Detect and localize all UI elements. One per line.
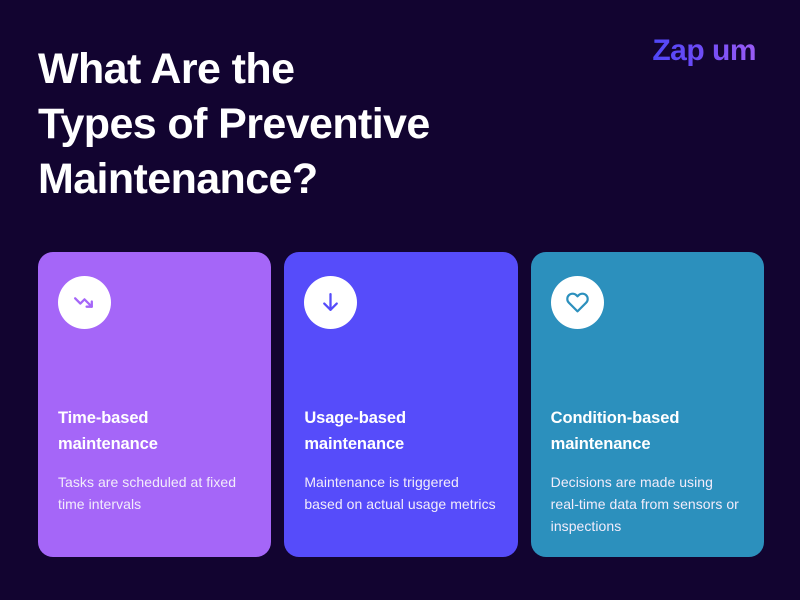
card-icon-wrapper [58,276,111,329]
slide-root: Zapium What Are the Types of Preventive … [0,0,800,600]
card-title-line-2: maintenance [58,435,158,453]
brand-logo: Zapium [652,36,756,66]
card-title: Usage-based maintenance [304,405,497,457]
card-description: Tasks are scheduled at fixed time interv… [58,472,251,516]
heart-icon [565,290,590,315]
trending-down-icon [72,290,97,315]
card-title-line-2: maintenance [304,435,404,453]
card-title: Time-based maintenance [58,405,251,457]
arrow-down-icon [318,290,343,315]
card-time-based[interactable]: Time-based maintenance Tasks are schedul… [38,252,271,557]
card-list: Time-based maintenance Tasks are schedul… [38,252,764,557]
card-title: Condition-based maintenance [551,405,744,457]
page-title-line-3: Maintenance? [38,155,318,203]
logo-text-part3: um [712,34,756,67]
card-description: Maintenance is triggered based on actual… [304,472,497,516]
page-title: What Are the Types of Preventive Mainten… [38,42,578,207]
page-title-line-1: What Are the [38,45,294,93]
card-description: Decisions are made using real-time data … [551,472,744,538]
card-usage-based[interactable]: Usage-based maintenance Maintenance is t… [284,252,517,557]
card-title-line-1: Time-based [58,409,148,427]
page-title-line-2: Types of Preventive [38,100,430,148]
card-condition-based[interactable]: Condition-based maintenance Decisions ar… [531,252,764,557]
logo-text-part1: Zap [652,34,704,67]
card-title-line-1: Condition-based [551,409,680,427]
card-title-line-2: maintenance [551,435,651,453]
card-icon-wrapper [551,276,604,329]
card-icon-wrapper [304,276,357,329]
card-title-line-1: Usage-based [304,409,406,427]
